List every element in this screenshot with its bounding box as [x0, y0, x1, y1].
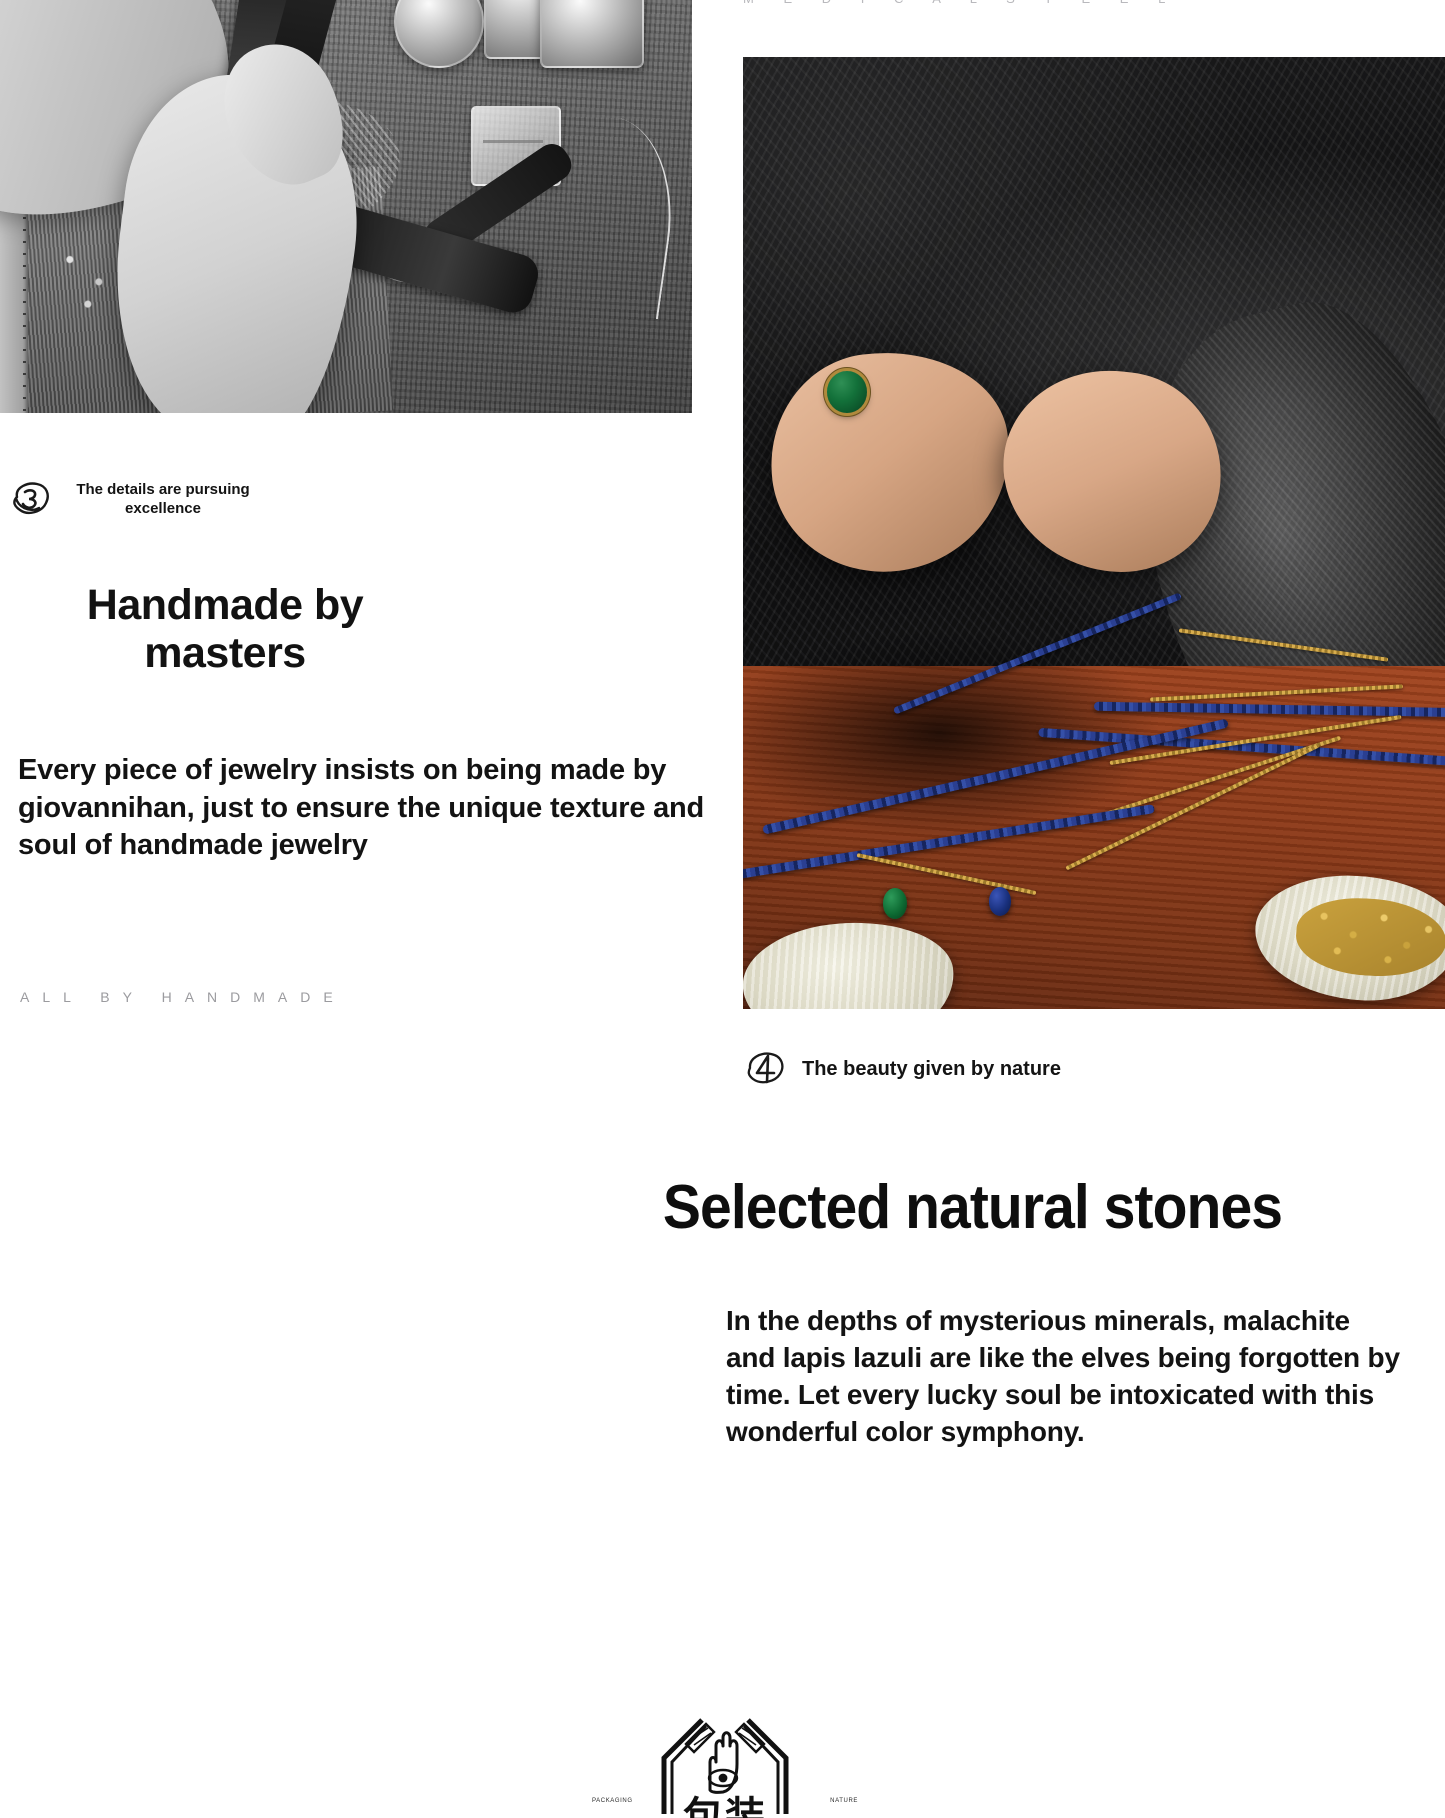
workbench-photo	[0, 0, 692, 413]
section-three-badge-row: The details are pursuing excellence	[8, 477, 258, 523]
section-four-headline: Selected natural stones	[547, 1175, 1398, 1240]
section-four-eyebrow: The beauty given by nature	[802, 1057, 1061, 1082]
section-four-body: In the depths of mysterious minerals, ma…	[726, 1303, 1406, 1451]
medical-steel-tagline: M E D I C A L S T E E L	[743, 0, 1143, 6]
section-three-eyebrow: The details are pursuing excellence	[68, 481, 258, 519]
section-three-headline: Handmade by masters	[20, 581, 430, 677]
malachite-pendant	[883, 888, 907, 918]
packaging-logo: 包装 PACKAGING NATURE	[590, 1706, 860, 1818]
hand-drawn-circle-4-icon	[742, 1046, 788, 1092]
workbench-photo-bw-layer	[0, 0, 692, 413]
lapis-pendant	[989, 887, 1011, 916]
section-three-body: Every piece of jewelry insists on being …	[18, 752, 718, 865]
product-detail-page: M E D I C A L S T E E L	[0, 0, 1445, 1818]
section-four-badge-row: The beauty given by nature	[742, 1046, 1061, 1092]
workbench-jar	[540, 0, 644, 68]
natural-stones-photo	[743, 57, 1445, 1009]
packaging-side-text-right: NATURE	[830, 1798, 858, 1804]
all-by-handmade-tagline: ALL BY HANDMADE	[20, 989, 346, 1005]
hand-drawn-circle-3-icon	[8, 477, 54, 523]
malachite-ring	[827, 371, 866, 413]
packaging-side-text-left: PACKAGING	[592, 1798, 633, 1804]
